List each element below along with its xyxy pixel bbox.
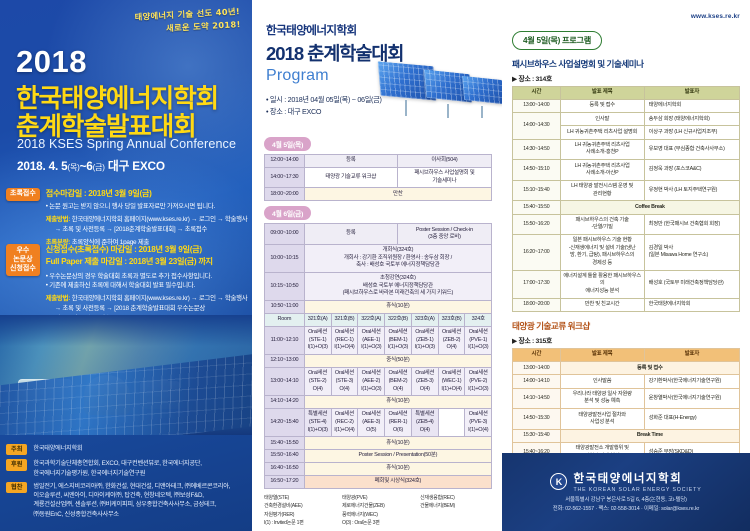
table-row: 09:00~10:00 등록 Poster Session / Check-in… [265,224,492,245]
session-count: I(1)+O(4) [466,427,490,435]
session-cell: Oral세션(PVE-3)I(1)+O(4) [465,409,492,437]
break-row: 15:40~15:50 휴식(10분) [265,437,492,450]
cover-title-english: 2018 KSES Spring Annual Conference [17,137,236,151]
abstract-bullet: • 논문 원고는 받지 않으니 행사 당일 발표자료만 가져오시면 됩니다. [46,202,248,212]
legend-column-2: 태양광(PVE) 제로에너지건물(ZEB) 풍력에너지(WEC) O(3) : … [342,494,414,527]
abstract-deadline: 접수마감일 : 2018년 3월 9일(금) [46,188,248,200]
cover-date-venue: 2018. 4. 5(목)~6(금) 대구 EXCO [17,157,165,174]
workshop-header-speaker: 발표자 [644,348,739,361]
website-url[interactable]: www.kses.re.kr [691,13,740,20]
session-count: O(4) [413,386,437,394]
day1-time-0: 12:00~14:00 [265,155,305,168]
session-kind: Oral세션 [386,329,410,337]
table-break-row: 15:30~15:40 Break Time [513,429,740,442]
session-kind: Oral세션 [466,329,490,337]
seminar-time: 14:00~14:30 [513,113,561,139]
session-code: (PVE-2) [466,378,490,386]
seminar-time: 14:30~14:50 [513,139,561,160]
session-cell: Oral세션(ZEB-3)O(4) [411,368,438,396]
cover-photo-strip [0,315,252,435]
workshop-time: 13:00~14:00 [513,362,561,375]
table-row: 15:10~15:40 LH 태양광 발전시스템 운영 및 관리현황 유정현 박… [513,180,740,201]
abstract-method-label: 제출방법: [46,216,70,223]
session-cell: 특별세션(ZEB-4)O(4) [411,409,438,437]
session-kind: Oral세션 [306,329,330,337]
day1-c2-1: 패시브하우스 사업설명회 및 기술세미나 [397,167,491,188]
session-kind: Oral세션 [466,370,490,378]
program-body: 4월 5일(목) 12:00~14:00 등록 이사회(504) 14:00~1… [252,132,502,531]
abstract-submission-section: 초록접수 접수마감일 : 2018년 3월 9일(금) • 논문 원고는 받지 … [6,188,248,247]
session-count: O(4) [306,386,330,394]
seminar-title: LH 귀농귀촌주택 리츠사업 사례소개-홍천P [560,139,644,160]
seminar-header-speaker: 발표자 [644,86,739,99]
day1-pill: 4월 5일(목) [264,137,311,151]
room-header-5: 323호(A) [411,314,438,327]
table-row: 15:50~16:20 패시브하우스의 건축 기술 -단열/기밀 최정만 (한국… [513,214,740,235]
seminar-title: 만찬 및 친교시간 [560,298,644,311]
panel-leg-1 [405,100,407,116]
best-paper-badge-line-3: 신청접수 [10,265,36,274]
table-row: 10:00~10:15 개회식(324호) 개회사 : 강기환 조직위원장 / … [265,244,492,272]
seminar-time: 16:20~17:00 [513,235,561,270]
best-paper-bullet-2: • 기존에 제출하신 초록에 대해서 학술대회 발표 필수입니다. [46,281,248,291]
session-code: (RER-1) [386,419,410,427]
break-label-3: Poster Session / Presentation(50분) [304,450,491,463]
session-code: (ZEB-1) [413,337,437,345]
session-code: (PVE-1) [466,337,490,345]
break-row: 12:10~13:00 중식(50분) [265,355,492,368]
session-code: (WEC-1) [440,378,464,386]
table-row: 14:00~14:30 인사말 송두삼 회장 (태양에너지학회) [513,113,740,126]
day2-full-2: 초청강연(324호) 배성호 국토부 에너지정책담당관 (패시브하우스로 바라본… [304,273,491,301]
seminar-header-title: 발표 제목 [560,86,644,99]
day2-c1-0: 등록 [304,224,397,245]
session-code: (PVE-3) [466,419,490,427]
cover-date-tilde: ~6 [80,159,93,173]
legend-item: 태양광(PVE) [342,494,414,502]
session-cell: Oral세션(RER-1)O(6) [385,409,412,437]
legend-item: 제로에너지건물(ZEB) [342,502,414,510]
session-cell: Oral세션(STE-1)I(1)+O(3) [304,327,331,355]
seminar-speaker: 유보영 대표 (무심종합 건축사사무소) [644,139,739,160]
break-time-3: 15:50~16:40 [265,450,305,463]
session-kind: Oral세션 [386,370,410,378]
seminar-time: 17:00~17:30 [513,270,561,298]
panel-leg-2 [447,104,449,118]
session-row: 11:00~12:10 Oral세션(STE-1)I(1)+O(3) Oral세… [265,327,492,355]
best-paper-badge-line-1: 우수 [10,247,36,256]
room-header-0: Room [265,314,305,327]
day1-c2-0: 이사회(504) [397,155,491,168]
session-cell: Oral세션(AEE-2)I(1)+O(3) [358,368,385,396]
session-kind: Oral세션 [359,329,383,337]
society-address-line-2: 전화: 02-562-1557 · 팩스: 02-558-3014 · 이메일:… [553,505,699,514]
session-cell: Oral세션(REC-1)I(1)+O(4) [331,327,358,355]
society-name-en: THE KOREAN SOLAR ENERGY SOCIETY [573,487,701,493]
session-kind: Oral세션 [306,370,330,378]
room-header-1: 321호(A) [304,314,331,327]
schedule-column: www.kses.re.kr 4월 5일(목) 프로그램 패시브하우스 사업설명… [502,0,750,531]
cover-venue: 대구 EXCO [108,159,165,173]
seminar-title: LH 귀농귀촌주택 리츠사업 사례소개-아산P [560,160,644,181]
session-legend: 태양열(STE) 건축환경설비(AEE) 자원평가(RER) I(1) : In… [264,494,492,527]
workshop-time: 14:10~14:50 [513,388,561,409]
day2-time-0: 09:00~10:00 [265,224,305,245]
day2-full-1: 개회식(324호) 개회사 : 강기환 조직위원장 / 환영사 : 송두삼 회장… [304,244,491,272]
session-kind: Oral세션 [333,411,357,419]
best-paper-badge: 우수 논문상 신청접수 [6,244,40,276]
table-row: 14:10~14:50 우리나라 태양광 일사 자원량 분석 및 성능 예측 윤… [513,388,740,409]
left-cover-panel: 태양에너지 기술 선도 40년! 새로운 도약 2018! 2018 한국태양에… [0,0,252,531]
table-break-row: 15:40~15:50 Coffee Break [513,201,740,214]
table-row: 13:00~14:00 등록 및 접수 태양에너지학회 [513,99,740,112]
day1-time-2: 18:00~20:00 [265,188,305,201]
workshop-break: Break Time [560,429,739,442]
workshop-header-time: 시간 [513,348,561,361]
seminar-table: 시간 발표 제목 발표자 13:00~14:00 등록 및 접수 태양에너지학회… [512,86,740,312]
seminar-speaker: 송두삼 회장 (태양에너지학회) [644,113,739,126]
seminar-title: 패시브하우스의 건축 기술 -단열/기밀 [560,214,644,235]
seminar-speaker: 최정만 (한국패시브 건축협회 회장) [644,214,739,235]
solar-panel-header-art [375,56,502,128]
session-cell-empty [438,409,465,437]
seminar-time: 18:00~20:00 [513,298,561,311]
session-cell: Oral세션(PVE-1)I(1)+O(3) [465,327,492,355]
legend-item: 태양열(STE) [264,494,336,502]
seminar-title: LH 태양광 발전시스템 운영 및 관리현황 [560,180,644,201]
session-cell: Oral세션(WEC-1)I(1)+O(4) [438,368,465,396]
panel-3 [462,76,502,105]
room-header-6: 323호(B) [438,314,465,327]
day1-c1-1: 태양광 기술교류 워크샵 [304,167,397,188]
break-time-4: 16:40~16:50 [265,463,305,476]
session-code: (STE-2) [306,378,330,386]
society-address: 서울특별시 강남구 봉은사로 5길 6, 4층(논현동, 코i-텔딩) 전화: … [553,496,699,513]
seminar-heading: 패시브하우스 사업설명회 및 기술세미나 [512,58,740,70]
abstract-method-text-2: → 초록 및 사전등록 → [2018춘계학술발표대회] → 초록접수 [46,225,248,235]
day2-c2-0: Poster Session / Check-in (3층 중앙 로비) [397,224,491,245]
cover-date-fri: (금) [93,163,105,172]
supporter-row: 후원 한국과학기술단체총연합회, EXCO, 대구컨벤션뷰로, 한국에너지공단,… [6,459,250,478]
society-footer: K 한국태양에너지학회 THE KOREAN SOLAR ENERGY SOCI… [502,453,750,531]
workshop-title: 우리나라 태양광 일사 자원량 분석 및 성능 예측 [560,388,644,409]
workshop-break: 등록 및 접수 [560,362,739,375]
legend-column-1: 태양열(STE) 건축환경설비(AEE) 자원평가(RER) I(1) : In… [264,494,336,527]
session-kind: Oral세션 [413,370,437,378]
session-kind: Oral세션 [359,411,383,419]
room-header-4: 322호(B) [385,314,412,327]
session-kind: Oral세션 [440,329,464,337]
session-code: (AEE-3) [359,419,383,427]
table-row: 14:50~15:30 태양광발전사업 절차와 사업성 분석 성화준 대표(H-… [513,409,740,430]
break-label-5: 폐회및 시상식(324호) [304,476,491,489]
session-cell: Oral세션(STE-2)O(4) [304,368,331,396]
program-society-name: 한국태양에너지학회 [266,22,492,38]
session-count: I(1)+O(4) [440,386,464,394]
solar-panel-illustration [0,351,252,435]
organizer-row: 주최 한국태양에너지학회 [6,444,250,455]
seminar-time: 13:00~14:00 [513,99,561,112]
society-logo: K 한국태양에너지학회 THE KOREAN SOLAR ENERGY SOCI… [550,470,701,493]
session-code: (ZEB-2) [440,337,464,345]
program-header: 한국태양에너지학회 2018 춘계학술대회 Program • 일시 : 201… [252,0,502,132]
session-cell: Oral세션(AEE-1)I(1)+O(3) [358,327,385,355]
sponsor-tag: 협찬 [6,482,27,493]
break-row: 14:10~14:20 휴식(10분) [265,396,492,409]
session-kind: 특별세션 [306,411,330,419]
session-kind: 특별세션 [413,411,437,419]
table-row: 14:30~14:50 LH 귀농귀촌주택 리츠사업 사례소개-홍천P 유보영 … [513,139,740,160]
workshop-header-title: 발표 제목 [560,348,644,361]
seminar-time: 15:50~16:20 [513,214,561,235]
break-label-2: 휴식(10분) [304,437,491,450]
seminar-speaker: 한국태양에너지학회 [644,298,739,311]
break-time-2: 15:40~15:50 [265,437,305,450]
session-code: (AEE-1) [359,337,383,345]
day2-time-2: 10:15~10:50 [265,273,305,301]
break-time-0: 12:10~13:00 [265,355,305,368]
day1-program-pill: 4월 5일(목) 프로그램 [512,31,602,50]
session-cell: Oral세션(REC-2)I(1)+O(4) [331,409,358,437]
supporter-text: 한국과학기술단체총연합회, EXCO, 대구컨벤션뷰로, 한국에너지공단, 한국… [33,459,201,478]
best-paper-bullet-1: • 우수논문상의 경우 학술대회 초록과 별도로 추가 접수사항입니다. [46,272,248,282]
session-cell: Oral세션(STE-3)O(4) [331,368,358,396]
day2-full-3: 휴식(10분) [304,301,491,314]
session-count: O(4) [386,386,410,394]
day2-time-1: 10:00~10:15 [265,244,305,272]
table-row: 17:00~17:30 에너지설계 툴을 활용한 패시브하우스의 에너지성능 분… [513,270,740,298]
table-row: 14:00~17:30 태양광 기술교류 워크샵 패시브하우스 사업설명회 및 … [265,167,492,188]
seminar-header-time: 시간 [513,86,561,99]
table-row: 14:00~14:10 인사말씀 강기환박사(한국에너지기술연구원) [513,375,740,388]
day2-time-3: 10:50~11:00 [265,301,305,314]
session-time-0: 11:00~12:10 [265,327,305,355]
table-header-row: 시간 발표 제목 발표자 [513,348,740,361]
organizer-list: 주최 한국태양에너지학회 후원 한국과학기술단체총연합회, EXCO, 대구컨벤… [6,444,250,523]
supporter-tag: 후원 [6,459,27,470]
break-row: 15:50~16:40 Poster Session / Presentatio… [265,450,492,463]
break-row: 16:50~17:20 폐회및 시상식(324호) [265,476,492,489]
day2-table: 09:00~10:00 등록 Poster Session / Check-in… [264,223,492,314]
session-kind: Oral세션 [440,370,464,378]
room-header-7: 324호 [465,314,492,327]
seminar-title: LH 귀농귀촌주택 리츠사업 설명회 [560,126,644,139]
seminar-speaker: 김정욱 과장 (포스코A&C) [644,160,739,181]
seminar-speaker: 배성호 (국토부 미래건축정책담당관) [644,270,739,298]
legend-item: O(3) : Oral논문 3편 [342,519,414,527]
room-header-2: 321호(B) [331,314,358,327]
table-row: 10:50~11:00 휴식(10분) [265,301,492,314]
break-time-1: 14:10~14:20 [265,396,305,409]
seminar-speaker: 유정현 박사 (LH 토지주택연구원) [644,180,739,201]
day1-table: 12:00~14:00 등록 이사회(504) 14:00~17:30 태양광 … [264,154,492,201]
best-paper-deadline-1: 신청접수(초록접수) 마감일 : 2018년 3월 9일(금) [46,244,248,256]
session-count: I(1)+O(3) [359,386,383,394]
session-count: O(4) [413,427,437,435]
session-time-1: 13:00~14:10 [265,368,305,396]
break-row: 16:40~16:50 휴식(10분) [265,463,492,476]
workshop-location: ▶ 장소 : 315호 [512,335,740,345]
table-row: 12:00~14:00 등록 이사회(504) [265,155,492,168]
session-count: O(4) [333,386,357,394]
table-row: 18:00~20:00 만찬 [265,188,492,201]
session-count: O(6) [386,427,410,435]
room-header-row: Room 321호(A) 321호(B) 322호(A) 322호(B) 323… [265,314,492,327]
seminar-title: 에너지설계 툴을 활용한 패시브하우스의 에너지성능 분석 [560,270,644,298]
seminar-speaker: 김경일 박사 (일본 Misawa Home 연구소) [644,235,739,270]
session-count: I(1)+O(3) [413,344,437,352]
legend-item: 자원평가(RER) [264,511,336,519]
organizer-tag: 주최 [6,444,27,455]
session-count: I(1)+O(4) [333,427,357,435]
session-grid-table: Room 321호(A) 321호(B) 322호(A) 322호(B) 323… [264,313,492,489]
society-address-line-1: 서울특별시 강남구 봉은사로 5길 6, 4층(논현동, 코i-텔딩) [553,496,699,505]
seminar-time: 15:10~15:40 [513,180,561,201]
seminar-speaker: 태양에너지학회 [644,99,739,112]
table-row: 10:15~10:50 초청강연(324호) 배성호 국토부 에너지정책담당관 … [265,273,492,301]
session-cell: Oral세션(PVE-2)I(1)+O(3) [465,368,492,396]
seminar-time: 15:40~15:50 [513,201,561,214]
room-header-3: 322호(A) [358,314,385,327]
session-cell: Oral세션(BEM-2)O(4) [385,368,412,396]
break-label-1: 휴식(10분) [304,396,491,409]
legend-item: I(1) : Invited논문 1편 [264,519,336,527]
schedule-body: 4월 5일(목) 프로그램 패시브하우스 사업설명회 및 기술세미나 ▶ 장소 … [502,0,750,510]
society-emblem-icon: K [550,473,567,490]
session-kind: Oral세션 [466,411,490,419]
best-paper-badge-line-2: 논문상 [10,256,36,265]
session-code: (ZEB-3) [413,378,437,386]
best-paper-method-text: 한국태양에너지학회 홈페이지(www.kses.re.kr) → 로그인 → 학… [72,295,248,302]
workshop-time: 14:00~14:10 [513,375,561,388]
session-code: (STE-4) [306,419,330,427]
sponsor-text: 범일전기, 에스지비코리아㈜, 한화건설, 현대건설, 디앤아테크, ㈜에베르콘… [33,482,230,519]
session-cell: Oral세션(ZEB-2)O(4) [438,327,465,355]
session-cell: Oral세션(ZEB-1)I(1)+O(3) [411,327,438,355]
session-code: (ZEB-4) [413,419,437,427]
session-count: I(1)+O(4) [333,344,357,352]
session-row: 13:00~14:10 Oral세션(STE-2)O(4) Oral세션(STE… [265,368,492,396]
session-row: 14:20~15:40 특별세션(STE-4)I(1)+O(3) Oral세션(… [265,409,492,437]
session-kind: Oral세션 [413,329,437,337]
cover-date-main: 2018. 4. 5 [17,159,67,173]
session-count: I(1)+O(3) [306,427,330,435]
organizer-text: 한국태양에너지학회 [33,444,82,453]
table-row: 14:50~15:10 LH 귀농귀촌주택 리츠사업 사례소개-아산P 김정욱 … [513,160,740,181]
society-name-kr: 한국태양에너지학회 [573,470,701,486]
session-count: I(1)+O(3) [386,344,410,352]
seminar-location: ▶ 장소 : 314호 [512,73,740,83]
abstract-badge: 초록접수 [6,188,40,201]
legend-column-3: 신재생융합(REC) 건물에너지(BEM) [420,494,492,527]
session-cell: 특별세션(STE-4)I(1)+O(3) [304,409,331,437]
session-code: (BEM-2) [386,378,410,386]
seminar-time: 14:50~15:10 [513,160,561,181]
table-row: 18:00~20:00 만찬 및 친교시간 한국태양에너지학회 [513,298,740,311]
session-count: O(4) [440,344,464,352]
session-kind: Oral세션 [333,370,357,378]
session-count: I(1)+O(3) [359,344,383,352]
abstract-method-text: 한국태양에너지학회 홈페이지(www.kses.re.kr) → 로그인 → 학… [72,216,248,223]
session-count: I(1)+O(3) [306,344,330,352]
best-paper-method-label: 제출방법: [46,295,70,302]
session-kind: Oral세션 [333,329,357,337]
best-paper-method-text-2: → 초록 및 사전등록 → [2018 춘계학술발표대회 우수논문상 [46,304,248,314]
legend-item: 건물에너지(BEM) [420,502,492,510]
session-code: (BEM-1) [386,337,410,345]
table-break-row: 13:00~14:00 등록 및 접수 [513,362,740,375]
seminar-speaker: 이상구 과장 (LH 신규사업지조부) [644,126,739,139]
break-label-4: 휴식(10분) [304,463,491,476]
workshop-title: 인사말씀 [560,375,644,388]
session-kind: Oral세션 [386,411,410,419]
workshop-speaker: 윤창열박사(한국에너지기술연구원) [644,388,739,409]
day1-full-2: 만찬 [304,188,491,201]
legend-item: 건축환경설비(AEE) [264,502,336,510]
cover-date-thu: (목) [67,163,79,172]
session-code: (STE-1) [306,337,330,345]
cover-year: 2018 [16,44,87,80]
brochure-page: 태양에너지 기술 선도 40년! 새로운 도약 2018! 2018 한국태양에… [0,0,750,531]
workshop-title: 태양광발전사업 절차와 사업성 분석 [560,409,644,430]
session-count: I(1)+O(3) [466,344,490,352]
session-code: (AEE-2) [359,378,383,386]
sponsor-row: 협찬 범일전기, 에스지비코리아㈜, 한화건설, 현대건설, 디앤아테크, ㈜에… [6,482,250,519]
program-column: 한국태양에너지학회 2018 춘계학술대회 Program • 일시 : 201… [252,0,502,531]
session-code: (STE-3) [333,378,357,386]
seminar-title: 일본 패시브하우스 기술 현황 -신재생에너지 및 설비 기술(냉난 방, 환기… [560,235,644,270]
table-header-row: 시간 발표 제목 발표자 [513,86,740,99]
workshop-speaker: 성화준 대표(H-Energy) [644,409,739,430]
break-time-5: 16:50~17:20 [265,476,305,489]
seminar-title: 등록 및 접수 [560,99,644,112]
session-code: (REC-2) [333,419,357,427]
session-kind: Oral세션 [359,370,383,378]
day2-pill: 4월 6일(금) [264,206,311,220]
legend-item: 신재생융합(REC) [420,494,492,502]
session-cell: Oral세션(AEE-3)O(5) [358,409,385,437]
session-time-2: 14:20~15:40 [265,409,305,437]
workshop-time: 14:50~15:30 [513,409,561,430]
session-count: O(5) [359,427,383,435]
handwritten-slogan: 태양에너지 기술 선도 40년! 새로운 도약 2018! [134,5,241,36]
seminar-break: Coffee Break [560,201,739,214]
best-paper-deadline-2: Full Paper 제출 마감일 : 2018년 3월 23일(금) 까지 [46,256,248,268]
workshop-heading: 태양광 기술교류 워크샵 [512,320,740,332]
break-label-0: 중식(50분) [304,355,491,368]
workshop-time: 15:30~15:40 [513,429,561,442]
panel-leg-3 [481,106,483,118]
day1-time-1: 14:00~17:30 [265,167,305,188]
seminar-title: 인사말 [560,113,644,126]
session-cell: Oral세션(BEM-1)I(1)+O(3) [385,327,412,355]
legend-item: 풍력에너지(WEC) [342,511,414,519]
session-count: I(1)+O(3) [466,386,490,394]
table-row: 16:20~17:00 일본 패시브하우스 기술 현황 -신재생에너지 및 설비… [513,235,740,270]
workshop-speaker: 강기환박사(한국에너지기술연구원) [644,375,739,388]
session-code: (REC-1) [333,337,357,345]
day1-c1-0: 등록 [304,155,397,168]
